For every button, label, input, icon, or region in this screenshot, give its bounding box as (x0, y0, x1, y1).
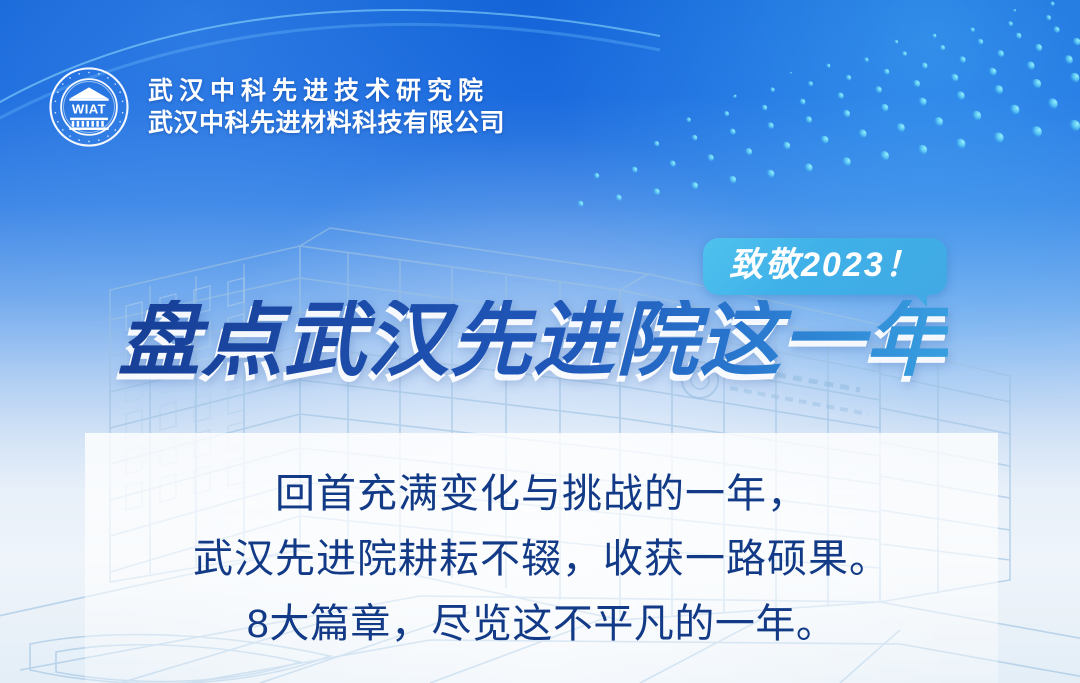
page-title: 盘点武汉先进院这一年 (118, 300, 948, 382)
body-line-2: 武汉先进院耕耘不辍，收获一路硕果。 (85, 527, 998, 592)
tribute-badge-label: 致敬2023！ (729, 247, 921, 284)
halftone-dot-wave-decoration (500, 0, 1080, 220)
organization-names: 武汉中科先进技术研究院 武汉中科先进材料科技有限公司 (148, 79, 505, 136)
tribute-badge-wrapper: 致敬2023！ (703, 238, 947, 295)
brand-header: WIAT 武汉中科先进技术研究院 武汉中科先进材料科技有限公司 (48, 66, 505, 148)
tribute-badge: 致敬2023！ (703, 238, 947, 295)
body-line-1: 回首充满变化与挑战的一年， (85, 462, 998, 527)
company-name: 武汉中科先进材料科技有限公司 (148, 111, 505, 136)
svg-text:WIAT: WIAT (72, 102, 106, 117)
body-copy: 回首充满变化与挑战的一年， 武汉先进院耕耘不辍，收获一路硕果。 8大篇章，尽览这… (85, 462, 998, 657)
poster-canvas: WIAT 武汉中科先进技术研究院 武汉中科先进材料科技有限公司 致敬2023！ (0, 0, 1080, 683)
wiat-seal-icon: WIAT (48, 66, 130, 148)
body-line-3: 8大篇章，尽览这不平凡的一年。 (85, 592, 998, 657)
institute-name: 武汉中科先进技术研究院 (148, 79, 505, 104)
